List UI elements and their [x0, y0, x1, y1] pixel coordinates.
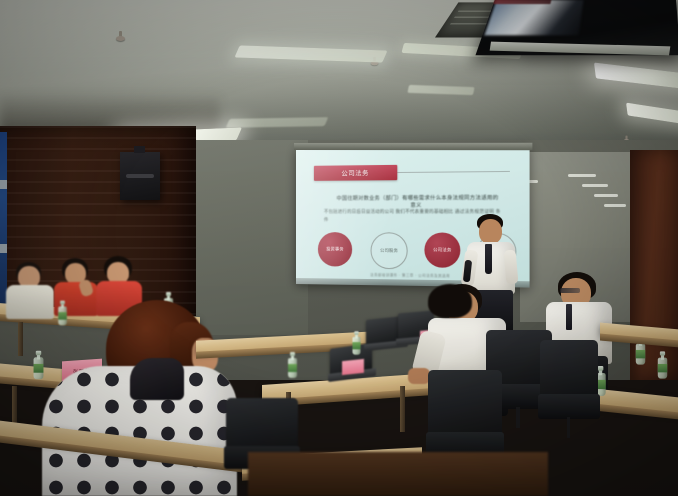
chair-post [516, 407, 520, 428]
slide-circle-label: 公司法务 [433, 247, 452, 253]
glasses-icon [560, 288, 580, 293]
chair-post [567, 417, 570, 438]
chair-back [540, 340, 598, 398]
slide-circle: 公司法务 [424, 232, 460, 267]
name-placard [342, 359, 364, 375]
projection-screen-housing [294, 143, 532, 150]
slide-circle: 公司股务 [371, 232, 408, 269]
arm [504, 250, 519, 285]
necktie [485, 244, 492, 274]
slide-banner-text: 公司法务 [341, 168, 369, 177]
chair-seat [538, 394, 599, 419]
office-chair [540, 340, 598, 436]
tv-screen-reflection [493, 0, 551, 4]
wall-speaker [120, 152, 160, 200]
conference-room-photo: 公司法务 中国往期对数业务（部门）有哪些需求什么本身法规同方法适用的意义 不包括… [0, 0, 678, 496]
chair-back [226, 398, 298, 450]
floor [248, 452, 548, 496]
necktie [566, 304, 572, 330]
slide-divider [397, 171, 510, 173]
whiteboard-marking [594, 194, 618, 197]
table-leg [400, 386, 405, 432]
slide-circle-label: 投资事务 [326, 246, 344, 252]
table-leg [18, 322, 23, 356]
speaker-bracket [134, 146, 145, 153]
head [479, 219, 502, 244]
slide-circle: 投资事务 [318, 232, 352, 267]
water-bottle [352, 331, 360, 354]
fire-sprinkler-icon [116, 31, 125, 42]
whiteboard-marking [582, 184, 608, 187]
speaker-grille [126, 174, 154, 178]
slide-circle-label: 公司股务 [380, 248, 398, 254]
ceiling-light-panel [226, 117, 329, 128]
collar [130, 358, 184, 400]
water-bottle [658, 351, 667, 378]
hand [408, 368, 430, 384]
whiteboard-marking [604, 204, 626, 207]
hair [428, 284, 472, 318]
chair-back [428, 370, 502, 436]
tv-screen-reflection [484, 0, 583, 35]
water-bottle [288, 352, 297, 378]
whiteboard-marking [568, 174, 596, 177]
attendee-dark-hair [418, 284, 478, 344]
slide-title-banner: 公司法务 [314, 165, 397, 181]
